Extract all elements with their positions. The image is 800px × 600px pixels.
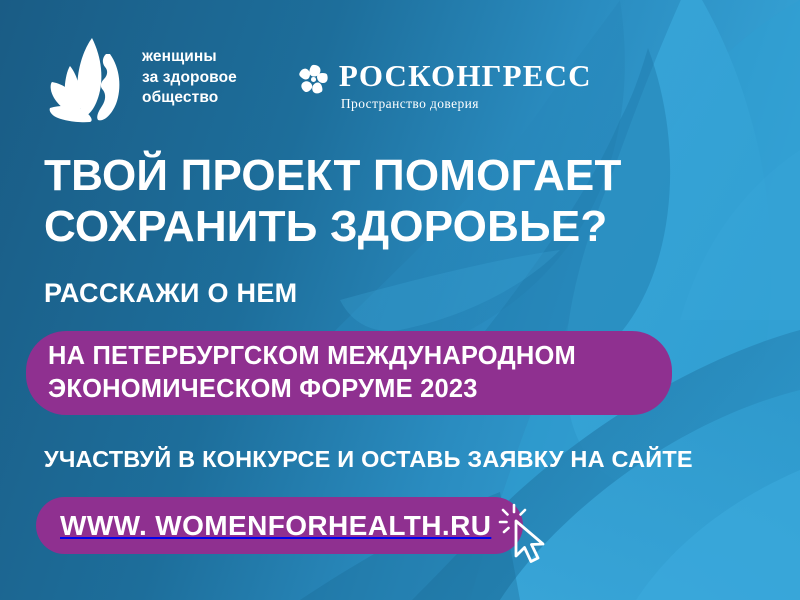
website-url-button[interactable]: WWW. WOMENFORHEALTH.RU [36, 497, 523, 554]
subheading-tell-about-it: РАССКАЖИ О НЕМ [44, 278, 297, 309]
roscongress-tagline: Пространство доверия [341, 96, 592, 112]
roscongress-wordmark: РОСКОНГРЕСС Пространство доверия [339, 60, 592, 112]
page-title: ТВОЙ ПРОЕКТ ПОМОГАЕТ СОХРАНИТЬ ЗДОРОВЬЕ? [44, 150, 622, 252]
women-for-health-logo: женщины за здоровое общество [48, 32, 237, 124]
flower-petals-woman-profile-icon [48, 32, 132, 124]
roscongress-title: РОСКОНГРЕСС [339, 60, 592, 91]
event-banner-line-1: НА ПЕТЕРБУРГСКОМ МЕЖДУНАРОДНОМ [48, 340, 672, 373]
website-url-label: WWW. WOMENFORHEALTH.RU [60, 510, 491, 542]
headline-line-1: ТВОЙ ПРОЕКТ ПОМОГАЕТ [44, 150, 622, 201]
headline-line-2: СОХРАНИТЬ ЗДОРОВЬЕ? [44, 201, 622, 252]
event-banner-line-2: ЭКОНОМИЧЕСКОМ ФОРУМЕ 2023 [48, 373, 672, 406]
wfh-line-1: женщины [142, 47, 237, 67]
women-for-health-wordmark: женщины за здоровое общество [142, 47, 237, 108]
pinwheel-flower-icon [297, 62, 330, 95]
subheading-call-to-action: УЧАСТВУЙ В КОНКУРСЕ И ОСТАВЬ ЗАЯВКУ НА С… [44, 446, 693, 473]
logo-row: женщины за здоровое общество РОСКОНГРЕСС… [48, 28, 592, 128]
wfh-line-2: за здоровое [142, 68, 237, 88]
wfh-line-3: общество [142, 88, 237, 108]
roscongress-logo: РОСКОНГРЕСС Пространство доверия [297, 44, 592, 112]
event-banner: НА ПЕТЕРБУРГСКОМ МЕЖДУНАРОДНОМ ЭКОНОМИЧЕ… [26, 331, 672, 415]
promotional-banner: женщины за здоровое общество РОСКОНГРЕСС… [0, 0, 800, 600]
